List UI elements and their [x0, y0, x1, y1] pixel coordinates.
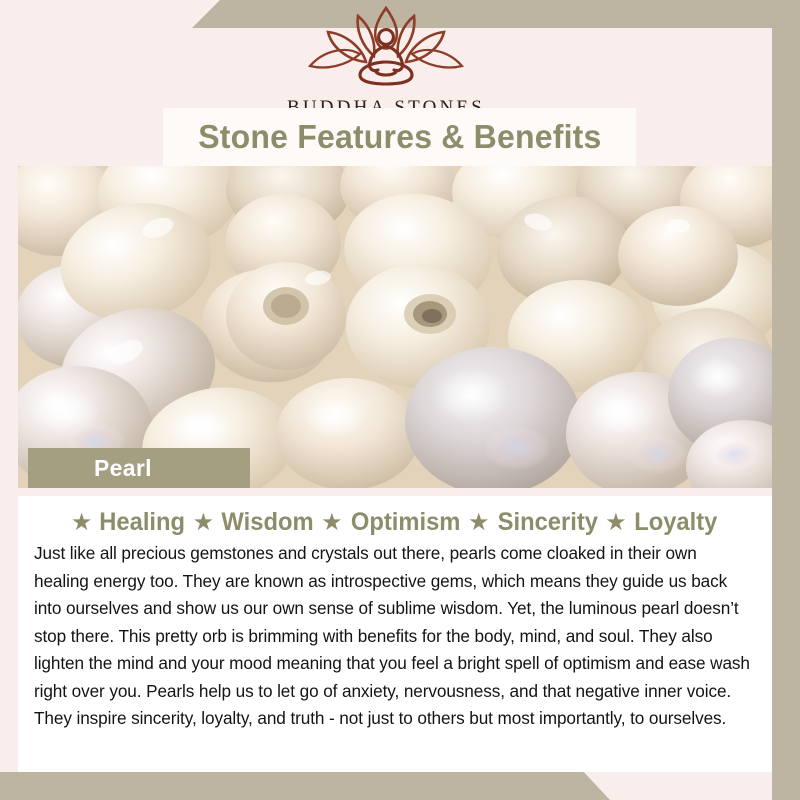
star-icon: ★ — [193, 511, 215, 535]
stone-name-banner: Pearl — [28, 448, 250, 488]
benefit-item-loyalty: ★Loyalty — [605, 508, 719, 537]
title-panel: Stone Features & Benefits — [163, 108, 636, 166]
stone-photo — [18, 166, 772, 488]
star-icon: ★ — [71, 511, 93, 535]
description-text: Just like all precious gemstones and cry… — [32, 540, 758, 733]
stone-name: Pearl — [94, 455, 152, 482]
frame-bottom-border — [0, 768, 800, 800]
benefit-item-healing: ★Healing — [71, 508, 188, 537]
benefit-label: Healing — [100, 508, 186, 537]
star-icon: ★ — [605, 511, 627, 535]
brand-logo-block: BUDDHA STONES — [0, 0, 772, 112]
benefit-label: Loyalty — [634, 508, 717, 537]
frame-right-border — [772, 0, 800, 800]
benefit-label: Wisdom — [222, 508, 314, 537]
lotus-meditation-figure-icon — [298, 4, 474, 93]
benefit-label: Sincerity — [497, 508, 597, 537]
star-icon: ★ — [468, 511, 490, 535]
star-icon: ★ — [321, 511, 343, 535]
page-title: Stone Features & Benefits — [198, 118, 601, 156]
benefits-row: ★Healing★Wisdom★Optimism★Sincerity★Loyal… — [32, 508, 758, 537]
description-card: ★Healing★Wisdom★Optimism★Sincerity★Loyal… — [18, 496, 772, 772]
benefit-item-sincerity: ★Sincerity — [468, 508, 600, 537]
benefit-item-wisdom: ★Wisdom — [193, 508, 317, 537]
benefit-item-optimism: ★Optimism — [321, 508, 463, 537]
benefit-label: Optimism — [351, 508, 461, 537]
